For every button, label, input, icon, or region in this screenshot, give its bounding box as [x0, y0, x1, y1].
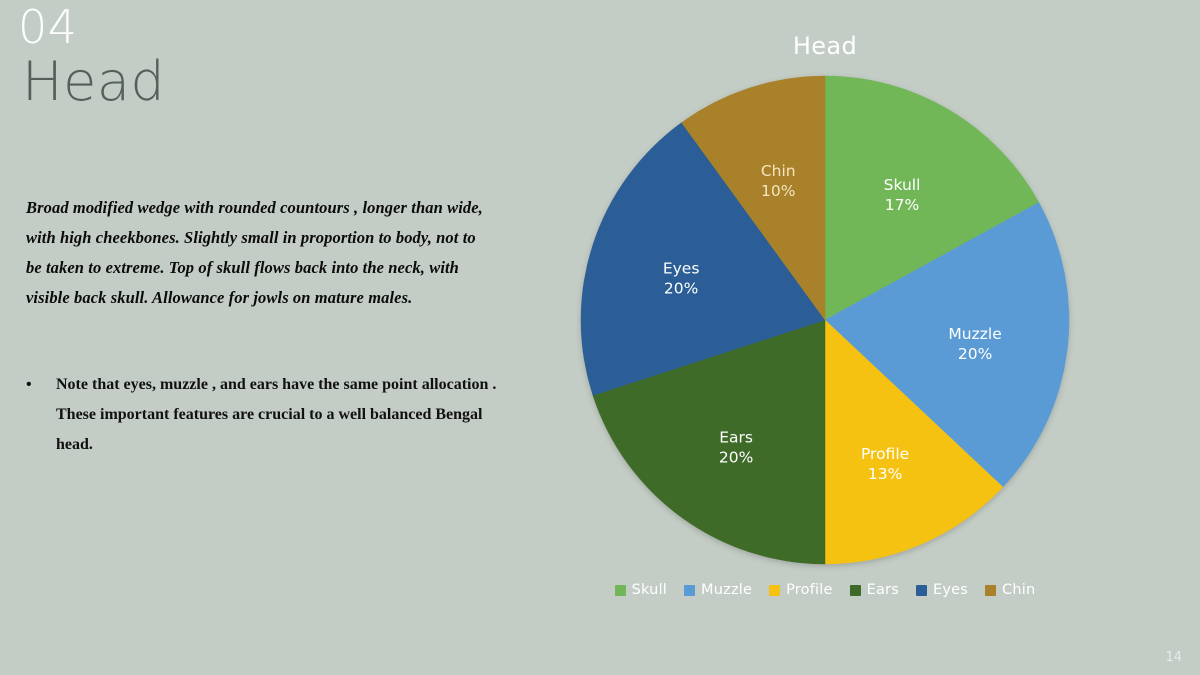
legend-swatch-icon: [985, 585, 996, 596]
pie-slice-group: [581, 76, 1069, 564]
legend-item-chin[interactable]: Chin: [985, 582, 1035, 598]
legend-swatch-icon: [769, 585, 780, 596]
section-number: 04: [18, 2, 78, 53]
pie-slice-label-muzzle: Muzzle: [948, 325, 1001, 343]
pie-slice-value-profile: 13%: [868, 465, 902, 483]
legend-item-ears[interactable]: Ears: [850, 582, 899, 598]
legend-item-muzzle[interactable]: Muzzle: [684, 582, 752, 598]
legend-swatch-icon: [615, 585, 626, 596]
list-item: Note that eyes, muzzle , and ears have t…: [52, 370, 502, 460]
pie-slice-label-chin: Chin: [761, 162, 796, 180]
legend-label: Skull: [632, 582, 667, 598]
pie-slice-value-muzzle: 20%: [958, 345, 992, 363]
bullet-list: • Note that eyes, muzzle , and ears have…: [24, 370, 502, 460]
pie-chart-plot: Skull17%Muzzle20%Profile13%Ears20%Eyes20…: [580, 75, 1070, 565]
page-title: Head: [22, 52, 165, 111]
pie-slice-label-skull: Skull: [884, 176, 921, 194]
legend-item-eyes[interactable]: Eyes: [916, 582, 968, 598]
legend-swatch-icon: [684, 585, 695, 596]
legend-label: Chin: [1002, 582, 1035, 598]
pie-chart-svg: Skull17%Muzzle20%Profile13%Ears20%Eyes20…: [580, 75, 1070, 565]
legend-item-skull[interactable]: Skull: [615, 582, 667, 598]
pie-slice-label-profile: Profile: [861, 445, 909, 463]
pie-slice-value-eyes: 20%: [664, 279, 698, 297]
pie-slice-label-eyes: Eyes: [663, 259, 700, 277]
bullet-marker-icon: •: [24, 370, 52, 400]
slide-canvas: 04 Head Broad modified wedge with rounde…: [0, 0, 1200, 675]
legend-swatch-icon: [916, 585, 927, 596]
legend-label: Profile: [786, 582, 833, 598]
pie-chart: Head Skull17%Muzzle20%Profile13%Ears20%E…: [560, 10, 1180, 610]
legend-swatch-icon: [850, 585, 861, 596]
chart-legend: SkullMuzzleProfileEarsEyesChin: [560, 582, 1090, 598]
legend-item-profile[interactable]: Profile: [769, 582, 833, 598]
chart-title: Head: [560, 32, 1090, 60]
legend-label: Ears: [867, 582, 899, 598]
legend-label: Muzzle: [701, 582, 752, 598]
pie-slice-value-chin: 10%: [761, 182, 795, 200]
page-number: 14: [1165, 650, 1182, 665]
description-paragraph: Broad modified wedge with rounded counto…: [26, 193, 492, 313]
pie-slice-value-skull: 17%: [885, 196, 919, 214]
pie-slice-value-ears: 20%: [719, 448, 753, 466]
pie-slice-label-ears: Ears: [719, 428, 753, 446]
legend-label: Eyes: [933, 582, 968, 598]
